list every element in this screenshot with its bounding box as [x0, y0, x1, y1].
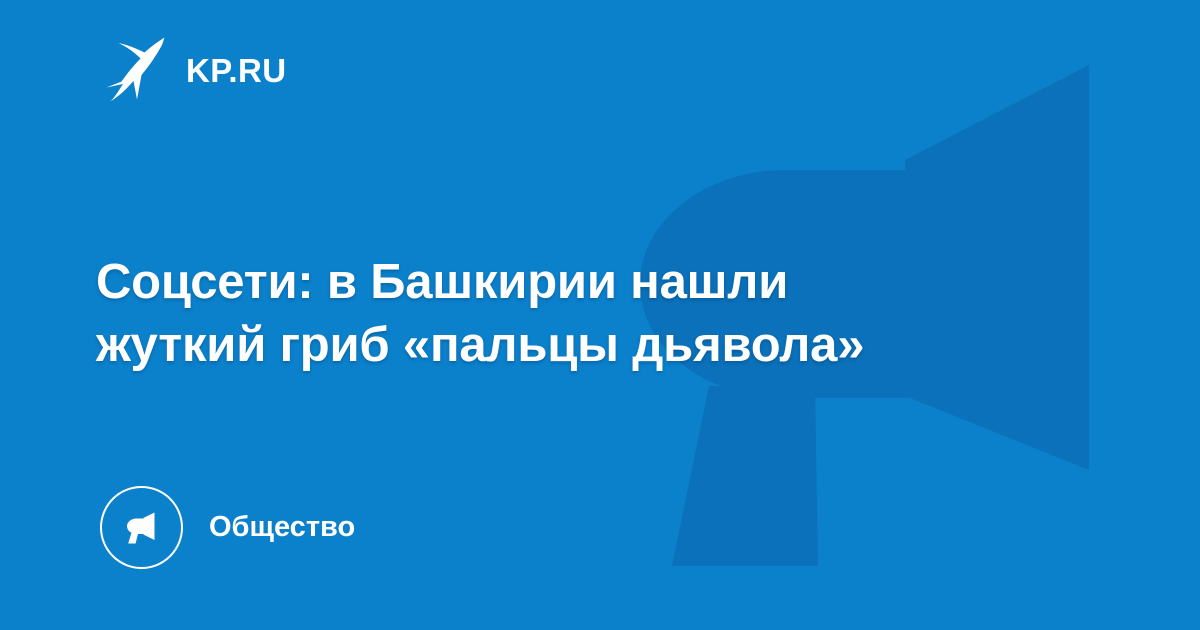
category-section[interactable]: Общество — [100, 484, 355, 570]
category-label: Общество — [209, 513, 355, 542]
headline-line-1: Соцсети: в Башкирии нашли — [96, 251, 1046, 314]
brand-header[interactable]: KP.RU — [104, 33, 286, 105]
category-badge — [100, 486, 183, 569]
headline-title: Соцсети: в Башкирии нашли жуткий гриб «п… — [96, 251, 1046, 376]
swallow-bird-logo-icon — [104, 36, 166, 102]
social-share-card: KP.RU Соцсети: в Башкирии нашли жуткий г… — [0, 0, 1200, 630]
headline-line-2: жуткий гриб «пальцы дьявола» — [96, 314, 1046, 377]
brand-wordmark: KP.RU — [186, 51, 286, 87]
megaphone-icon — [121, 506, 163, 548]
